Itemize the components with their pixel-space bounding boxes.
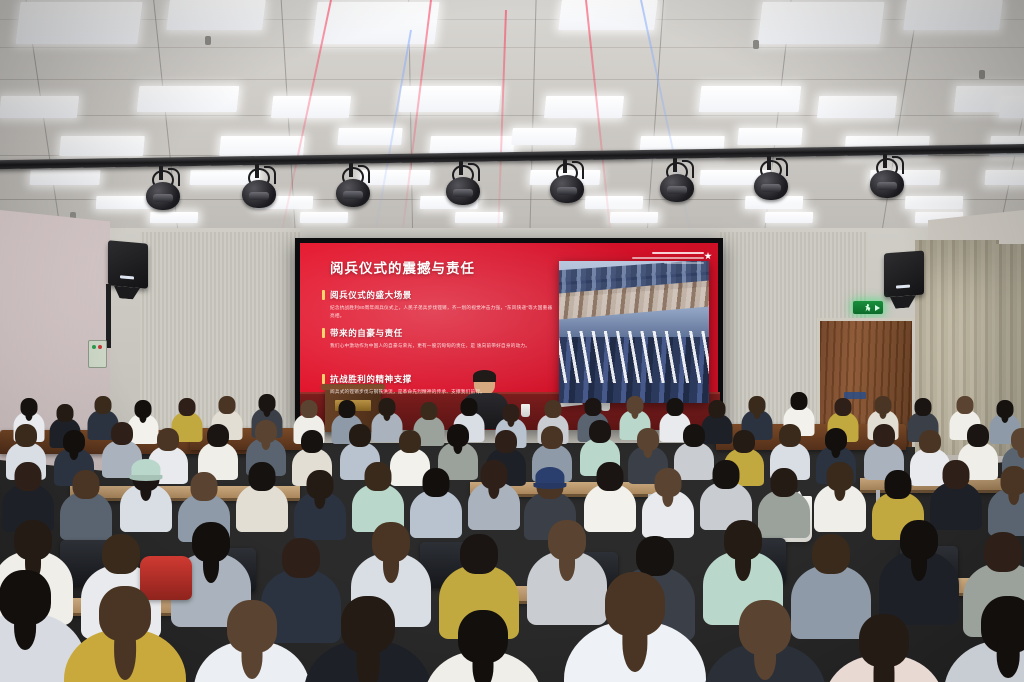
- baseball-cap: [535, 467, 564, 486]
- person-head: [179, 398, 196, 416]
- person-head: [102, 534, 140, 574]
- person-head: [835, 398, 852, 416]
- person-head: [636, 536, 674, 576]
- person-head: [15, 424, 37, 447]
- person-head: [812, 534, 850, 574]
- person-head: [873, 424, 895, 447]
- person-head: [301, 400, 318, 418]
- person-head: [219, 396, 236, 414]
- person-head: [771, 468, 798, 497]
- person-ponytail: [203, 549, 219, 583]
- person-ponytail: [1017, 443, 1024, 458]
- person-head: [15, 462, 42, 491]
- person-head: [667, 398, 684, 416]
- person-head: [73, 470, 100, 499]
- star-icon: [704, 252, 712, 260]
- person-head: [461, 398, 478, 416]
- person-head: [421, 402, 438, 420]
- person-head: [57, 404, 74, 422]
- person-head: [545, 400, 562, 418]
- person-head: [399, 430, 421, 453]
- person-head: [589, 420, 611, 443]
- person-head: [791, 392, 808, 410]
- person-ponytail: [242, 635, 263, 679]
- person-head: [423, 468, 450, 497]
- person-torso: [758, 490, 810, 538]
- person-head: [460, 534, 498, 574]
- person-head: [943, 460, 970, 489]
- person-head: [541, 426, 563, 449]
- person-head: [709, 400, 726, 418]
- person-head: [779, 424, 801, 447]
- person-ponytail: [14, 606, 36, 650]
- person-torso: [410, 490, 462, 538]
- person-head: [733, 430, 755, 453]
- bullet-body: 纪念抗战胜利80周年阅兵仪式上，人民子弟兵步伐铿锵，齐一划的视觉冲击力强，“东风…: [330, 304, 555, 320]
- slide-decoration: [616, 249, 712, 265]
- person-head: [957, 396, 974, 414]
- bullet-accent-bar: [322, 290, 325, 300]
- person-ponytail: [754, 636, 776, 680]
- bullet-heading: 阅兵仪式的盛大场景: [330, 289, 555, 301]
- person-ponytail: [473, 645, 494, 682]
- person-head: [95, 396, 112, 414]
- person-torso: [930, 482, 982, 530]
- person-torso: [584, 484, 636, 532]
- bullet-body: 阅兵式的铿锵步伐与钢铁洪流，是革命先烈精神的传承、支撑我们前行。: [330, 388, 555, 396]
- person-head: [249, 462, 276, 491]
- person-head: [597, 462, 624, 491]
- lecture-hall-scene: 阅兵仪式的震撼与责任 阅兵仪式的盛大场景 纪念抗战胜利80周年阅兵仪式上，人民子…: [0, 0, 1024, 682]
- parade-photo: [559, 261, 709, 403]
- person-head: [339, 400, 356, 418]
- person-head: [157, 428, 179, 451]
- bullet-heading: 带来的自豪与责任: [330, 327, 555, 339]
- person-ponytail: [357, 634, 380, 682]
- deco-line-3: [664, 262, 704, 264]
- red-backpack: [140, 556, 192, 600]
- person-torso: [791, 565, 871, 639]
- person-head: [301, 430, 323, 453]
- person-torso: [60, 492, 112, 540]
- bullet-body: 我们心中激动作为中国人的自豪与荣光，更有一股沉甸甸的责任，是 逸向前带好自身的动…: [330, 342, 555, 350]
- deco-line-1: [652, 252, 704, 254]
- person-ponytail: [383, 549, 399, 583]
- slide-bullet-3: 抗战胜利的精神支撑 阅兵式的铿锵步伐与钢铁洪流，是革命先烈精神的传承、支撑我们前…: [330, 373, 555, 396]
- person-ponytail: [911, 547, 927, 581]
- person-head: [683, 424, 705, 447]
- person-ponytail: [735, 547, 751, 581]
- person-head: [191, 472, 218, 501]
- person-head: [713, 460, 740, 489]
- person-head: [919, 430, 941, 453]
- person-head: [282, 538, 320, 578]
- person-ponytail: [114, 622, 136, 680]
- slide-title: 阅兵仪式的震撼与责任: [330, 257, 475, 277]
- slide-bullet-2: 带来的自豪与责任 我们心中激动作为中国人的自豪与荣光，更有一股沉甸甸的责任，是 …: [330, 327, 555, 350]
- person-ponytail: [997, 634, 1020, 678]
- bullet-accent-bar: [322, 328, 325, 338]
- baseball-cap: [131, 459, 160, 478]
- bullet-heading: 抗战胜利的精神支撑: [330, 373, 555, 385]
- person-ponytail: [622, 614, 647, 672]
- person-head: [984, 532, 1022, 572]
- person-head: [885, 470, 912, 499]
- person-torso: [236, 484, 288, 532]
- person-head: [207, 424, 229, 447]
- person-head: [967, 424, 989, 447]
- bullet-accent-bar: [322, 374, 325, 384]
- photo-rifles: [559, 331, 709, 383]
- deco-line-2: [632, 257, 704, 259]
- person-head: [585, 398, 602, 416]
- person-head: [495, 430, 517, 453]
- person-ponytail: [559, 547, 575, 581]
- slide-bullet-1: 阅兵仪式的盛大场景 纪念抗战胜利80周年阅兵仪式上，人民子弟兵步伐铿锵，齐一划的…: [330, 289, 555, 320]
- person-head: [349, 424, 371, 447]
- person-head: [915, 398, 932, 416]
- person-head: [111, 422, 133, 445]
- person-ponytail: [874, 649, 895, 682]
- person-torso: [702, 414, 733, 444]
- person-head: [365, 462, 392, 491]
